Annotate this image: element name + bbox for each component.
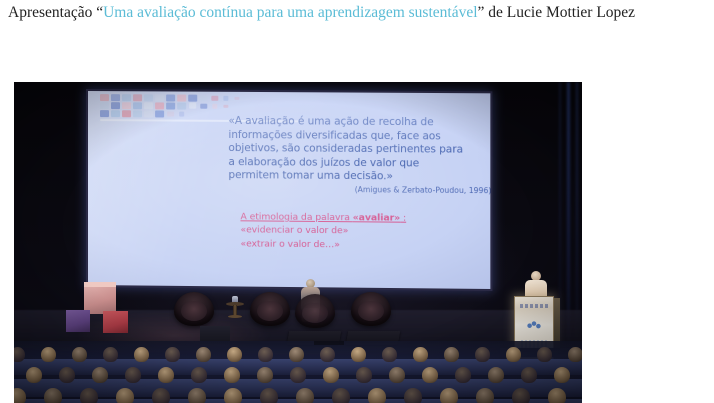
audience-head <box>125 367 141 383</box>
podium-logo-icon <box>523 318 545 332</box>
cube-face-top <box>84 282 116 287</box>
slide-quote-line: informações diversificadas que, face aos <box>228 129 440 142</box>
mosaic-square <box>223 104 228 108</box>
audience-head <box>382 347 397 362</box>
mosaic-square <box>177 95 186 102</box>
audience-head <box>488 367 504 383</box>
standing-speaker <box>523 271 549 299</box>
audience-head <box>41 347 56 362</box>
mosaic-square <box>122 110 131 117</box>
projector-silhouette <box>314 341 344 345</box>
mosaic-square <box>133 110 142 117</box>
audience-head <box>227 347 242 362</box>
audience-head <box>260 388 278 403</box>
etymology-heading-after: : <box>400 213 406 224</box>
mosaic-square <box>100 94 109 101</box>
audience-head <box>351 347 366 362</box>
audience-head <box>506 347 521 362</box>
table-base <box>228 315 242 318</box>
audience-head <box>404 388 422 403</box>
mosaic-square <box>144 94 153 101</box>
audience-head <box>188 388 206 403</box>
mosaic-square <box>167 111 174 116</box>
etymology-item: «extrair o valor de…» <box>240 237 490 253</box>
image-caption: Apresentação “Uma avaliação contínua par… <box>8 2 714 24</box>
audience-head <box>476 388 494 403</box>
mosaic-square <box>189 103 197 109</box>
projection-screen: «A avaliação é uma ação de recolha de in… <box>88 91 490 289</box>
presentation-title-link[interactable]: Uma avaliação contínua para uma aprendiz… <box>103 4 477 21</box>
audience-head <box>80 388 98 403</box>
mosaic-square <box>144 102 153 109</box>
mosaic-square <box>212 96 219 101</box>
audience-head <box>134 347 149 362</box>
audience-head <box>554 367 570 383</box>
mosaic-square <box>133 94 142 101</box>
mosaic-square <box>177 103 186 110</box>
slide-etymology-block: A etimologia da palavra «avaliar» : «evi… <box>240 210 490 253</box>
audience-head <box>323 367 339 383</box>
cube-face <box>66 310 90 332</box>
audience-head <box>14 347 25 362</box>
mosaic-square <box>111 94 120 101</box>
stage-chair <box>351 292 391 326</box>
mosaic-square <box>133 102 142 109</box>
etymology-heading-bold: «avaliar» <box>353 212 400 223</box>
audience-head <box>258 347 273 362</box>
audience-head <box>320 347 335 362</box>
mosaic-square <box>189 95 197 102</box>
audience-head <box>440 388 458 403</box>
audience-head <box>455 367 471 383</box>
etymology-heading: A etimologia da palavra «avaliar» : <box>240 210 406 225</box>
audience <box>14 341 582 403</box>
stage-chair <box>295 294 335 328</box>
audience-head <box>191 367 207 383</box>
mosaic-square <box>100 110 109 117</box>
audience-head <box>224 367 240 383</box>
cube-face <box>103 311 128 333</box>
audience-head <box>158 367 174 383</box>
slide-quote-line: permitem tomar uma decisão.» <box>228 169 393 182</box>
mosaic-square <box>155 94 164 101</box>
conference-photo: «A avaliação é uma ação de recolha de in… <box>14 82 582 403</box>
audience-head <box>257 367 273 383</box>
audience-head <box>475 347 490 362</box>
audience-head <box>44 388 62 403</box>
audience-head <box>152 388 170 403</box>
slide-quote-line: «A avaliação é uma ação de recolha de <box>228 115 433 128</box>
audience-head <box>332 388 350 403</box>
slide-attribution: (Amigues & Zerbato-Poudou, 1996) <box>314 185 490 196</box>
audience-head <box>368 388 386 403</box>
etymology-heading-before: A etimologia da palavra <box>240 211 352 223</box>
mosaic-square <box>200 104 207 109</box>
mosaic-square <box>111 102 120 109</box>
mosaic-square <box>166 102 175 109</box>
audience-head <box>59 367 75 383</box>
caption-prefix: Apresentação “ <box>8 4 103 21</box>
audience-head <box>512 388 530 403</box>
mosaic-square <box>212 104 218 109</box>
audience-head <box>290 367 306 383</box>
slide-quote-line: a elaboração dos juízos de valor que <box>228 156 419 169</box>
mosaic-square <box>155 111 163 117</box>
mosaic-square <box>122 94 131 101</box>
mosaic-square <box>111 110 120 117</box>
podium-logo-text <box>520 304 548 308</box>
audience-head <box>165 347 180 362</box>
audience-head <box>444 347 459 362</box>
audience-head <box>389 367 405 383</box>
audience-head <box>537 347 552 362</box>
audience-head <box>356 367 372 383</box>
stage-chair <box>250 292 290 326</box>
mosaic-square <box>100 102 109 109</box>
audience-head <box>568 347 582 362</box>
audience-head <box>413 347 428 362</box>
audience-head <box>103 347 118 362</box>
audience-head <box>548 388 566 403</box>
audience-head <box>521 367 537 383</box>
stage-side-table <box>226 296 244 318</box>
audience-head <box>296 388 314 403</box>
audience-head <box>26 367 42 383</box>
audience-head <box>422 367 438 383</box>
mosaic-square <box>144 110 153 117</box>
slide-quote-line: objetivos, são consideradas pertinentes … <box>228 142 463 156</box>
audience-head <box>224 388 242 403</box>
stage-chair <box>174 292 214 326</box>
mosaic-square <box>179 112 184 116</box>
mosaic-square <box>234 96 239 100</box>
audience-head <box>92 367 108 383</box>
cube-purple-left <box>66 310 90 332</box>
mosaic-square <box>166 94 175 101</box>
cube-red-right <box>103 311 128 333</box>
mosaic-square <box>155 102 164 109</box>
mosaic-square <box>223 96 229 101</box>
audience-head <box>116 388 134 403</box>
slide-quote: «A avaliação é uma ação de recolha de in… <box>228 115 481 185</box>
mosaic-square <box>200 95 207 101</box>
audience-head <box>196 347 211 362</box>
audience-head <box>72 347 87 362</box>
mosaic-square <box>122 102 131 109</box>
caption-suffix: ” de Lucie Mottier Lopez <box>478 4 636 21</box>
audience-head <box>289 347 304 362</box>
